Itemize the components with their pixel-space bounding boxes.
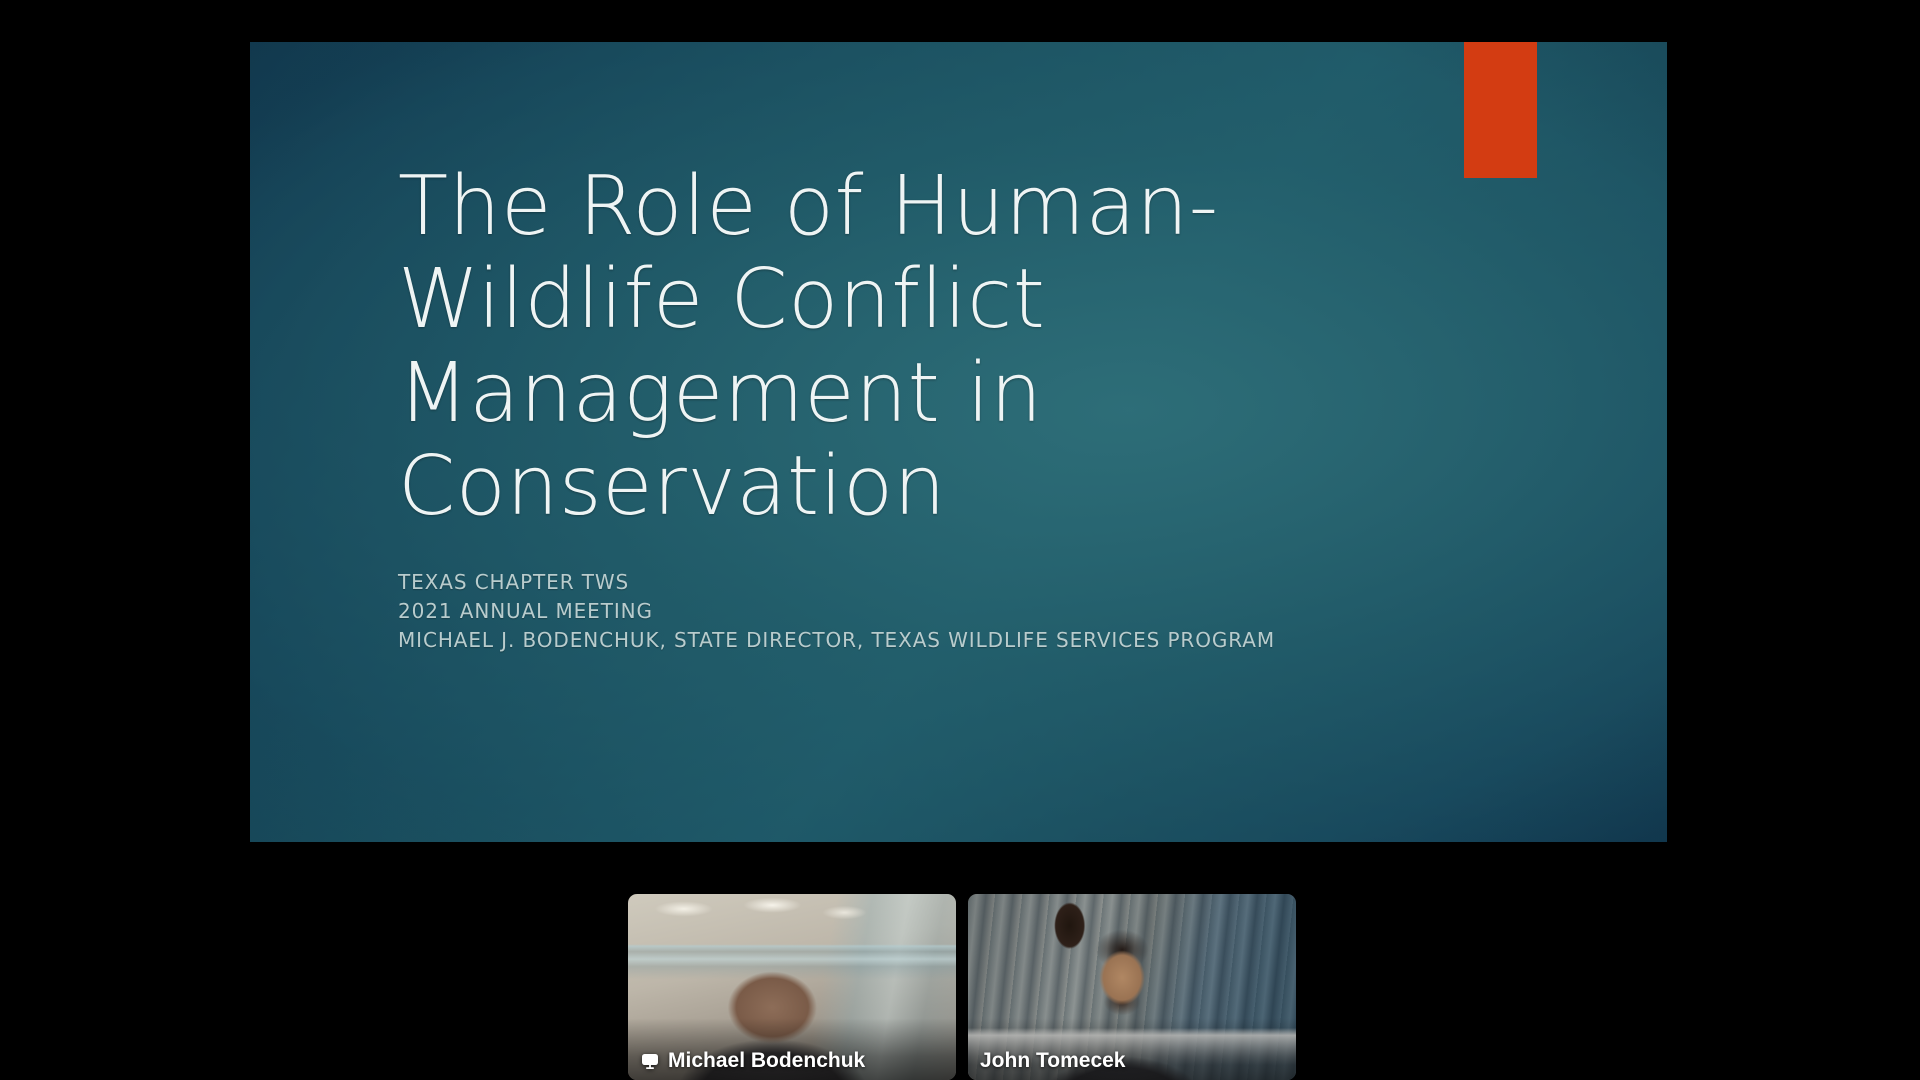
participant-name-bar: Michael Bodenchuk [640, 1050, 865, 1071]
meeting-window: The Role of Human- Wildlife Conflict Man… [0, 0, 1920, 1080]
slide-subtitle-line-1: TEXAS CHAPTER TWS [398, 568, 1408, 597]
slide-subtitle-line-3: MICHAEL J. BODENCHUK, STATE DIRECTOR, TE… [398, 626, 1408, 655]
participant-filmstrip: Michael Bodenchuk John Tomecek [628, 894, 1296, 1080]
shared-screen-slide[interactable]: The Role of Human- Wildlife Conflict Man… [250, 42, 1667, 842]
participant-tile-michael-bodenchuk[interactable]: Michael Bodenchuk [628, 894, 956, 1080]
slide-subtitle-line-2: 2021 ANNUAL MEETING [398, 597, 1408, 626]
participant-name-label: Michael Bodenchuk [668, 1050, 865, 1071]
slide-content: The Role of Human- Wildlife Conflict Man… [398, 160, 1408, 655]
screen-share-icon [640, 1051, 660, 1071]
participant-tile-john-tomecek[interactable]: John Tomecek [968, 894, 1296, 1080]
slide-subtitle-group: TEXAS CHAPTER TWS 2021 ANNUAL MEETING MI… [398, 568, 1408, 656]
participant-name-bar: John Tomecek [980, 1050, 1125, 1071]
slide-accent-rectangle [1464, 42, 1537, 178]
slide-title: The Role of Human- Wildlife Conflict Man… [398, 160, 1408, 534]
participant-name-label: John Tomecek [980, 1050, 1125, 1071]
